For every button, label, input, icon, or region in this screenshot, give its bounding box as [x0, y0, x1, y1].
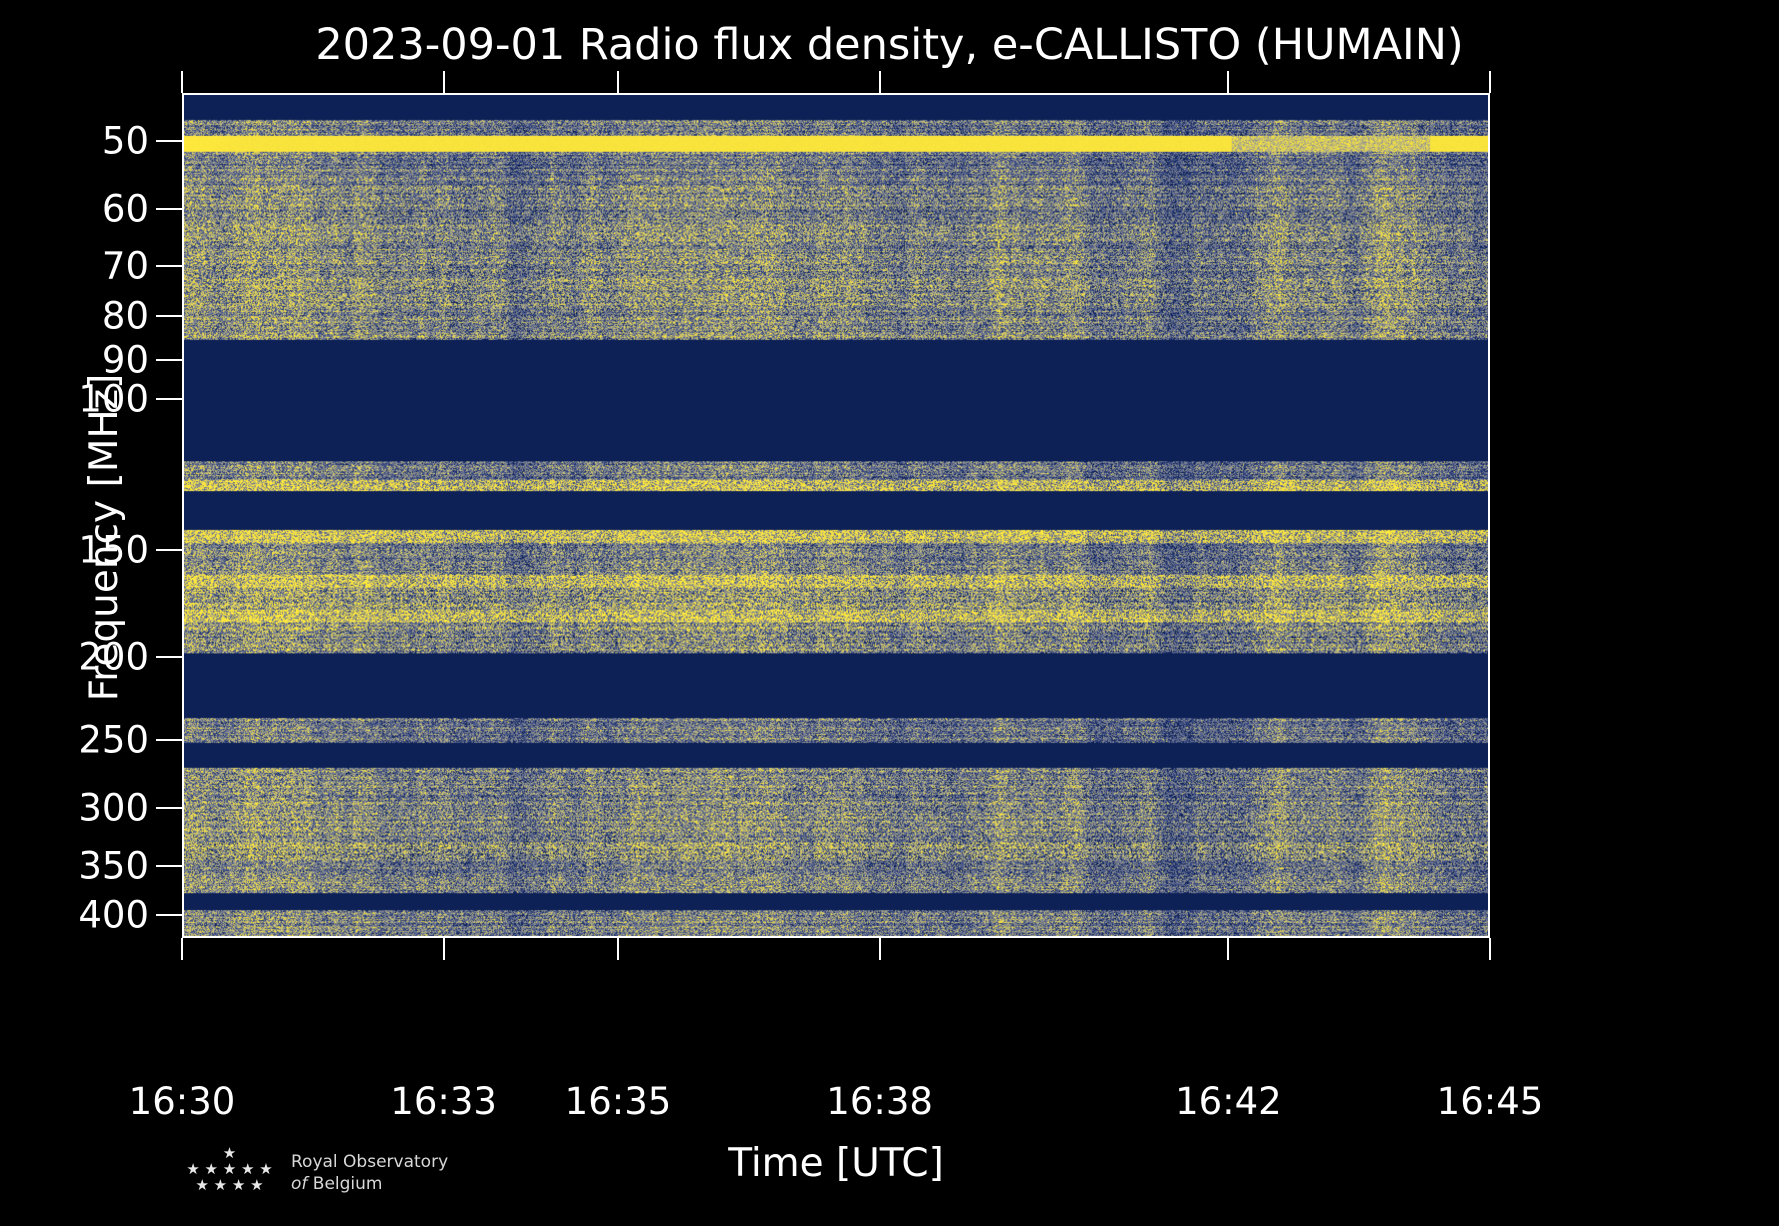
x-tick-label: 16:42: [1175, 1080, 1282, 1123]
x-tick-label: 16:33: [390, 1080, 497, 1123]
x-tick-label: 16:38: [826, 1080, 933, 1123]
royal-observatory-logo: ★ ★ ★ ★ ★ ★ ★ ★ ★ ★ Royal Observatory of…: [182, 1146, 448, 1202]
x-tick-label: 16:30: [129, 1080, 236, 1123]
x-tick-mark-top: [617, 71, 619, 93]
logo-text: Royal Observatory of Belgium: [291, 1152, 448, 1196]
x-tick-mark-top: [1489, 71, 1491, 93]
x-tick-mark: [443, 938, 445, 960]
star-row-middle: ★ ★ ★ ★ ★: [182, 1162, 277, 1177]
spectrogram-canvas: [184, 95, 1488, 936]
x-tick-mark: [1489, 938, 1491, 960]
x-tick-label: 16:45: [1437, 1080, 1544, 1123]
y-tick-mark: [156, 865, 182, 867]
y-tick-mark: [156, 656, 182, 658]
x-tick-mark-top: [1227, 71, 1229, 93]
y-tick-mark: [156, 208, 182, 210]
y-tick-mark: [156, 140, 182, 142]
y-tick-mark: [156, 807, 182, 809]
y-tick-mark: [156, 739, 182, 741]
y-tick-mark: [156, 914, 182, 916]
y-tick-mark: [156, 265, 182, 267]
logo-line-2: of Belgium: [291, 1174, 448, 1196]
stars-icon: ★ ★ ★ ★ ★ ★ ★ ★ ★ ★: [182, 1146, 277, 1202]
logo-belgium: Belgium: [313, 1174, 383, 1194]
y-tick-mark: [156, 359, 182, 361]
y-tick-mark: [156, 315, 182, 317]
y-tick-mark: [156, 549, 182, 551]
logo-of: of: [291, 1174, 307, 1194]
y-tick-mark: [156, 398, 182, 400]
x-tick-label: 16:35: [565, 1080, 672, 1123]
x-tick-mark: [1227, 938, 1229, 960]
star-row-bottom: ★ ★ ★ ★: [182, 1178, 277, 1193]
x-tick-mark: [181, 938, 183, 960]
x-tick-mark-top: [443, 71, 445, 93]
plot-area: [182, 93, 1490, 938]
x-tick-mark: [879, 938, 881, 960]
logo-line-1: Royal Observatory: [291, 1152, 448, 1174]
x-tick-mark-top: [181, 71, 183, 93]
spectrogram-figure: 2023-09-01 Radio flux density, e-CALLIST…: [0, 0, 1779, 1226]
x-tick-mark-top: [879, 71, 881, 93]
page-title: 2023-09-01 Radio flux density, e-CALLIST…: [0, 20, 1779, 70]
y-axis-title: Frequency [MHz]: [82, 115, 127, 960]
star-row-top: ★: [182, 1146, 277, 1161]
x-tick-mark: [617, 938, 619, 960]
